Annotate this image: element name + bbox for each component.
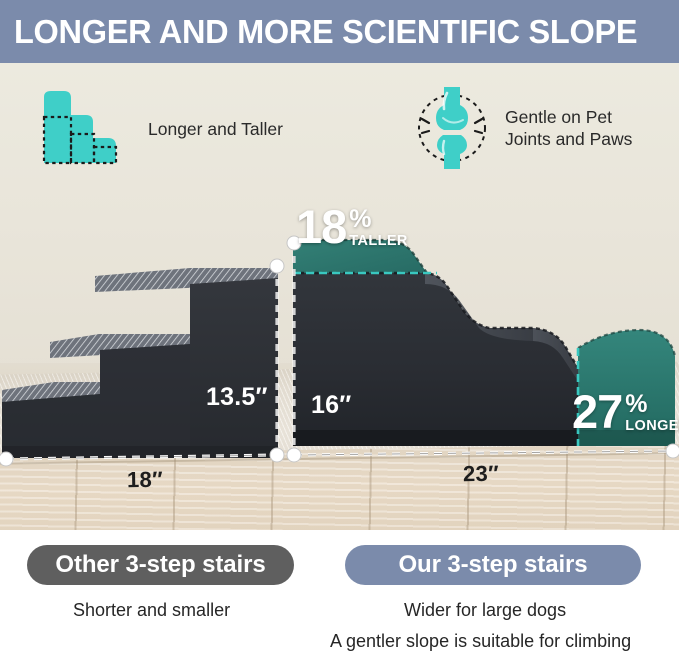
pill-our-stairs: Our 3-step stairs <box>345 545 641 585</box>
feature-longer-and-taller: Longer and Taller <box>24 89 283 169</box>
comparison-footer: Other 3-step stairs Our 3-step stairs Sh… <box>0 530 679 657</box>
pet-joint-icon <box>413 85 491 171</box>
other-stairs-width-label: 18″ <box>127 467 163 494</box>
pill-other-stairs: Other 3-step stairs <box>27 545 294 585</box>
caption-our-stairs-line1: Wider for large dogs <box>404 601 566 621</box>
header-bar: LONGER AND MORE SCIENTIFIC SLOPE <box>0 0 679 63</box>
infographic-page: LONGER AND MORE SCIENTIFIC SLOPE Longer … <box>0 0 679 657</box>
our-stairs-height-label: 16″ <box>311 391 351 420</box>
our-stairs-width-label: 23″ <box>463 461 499 488</box>
feature-gentle-on-joints: Gentle on Pet Joints and Paws <box>413 85 632 171</box>
badge-18-percent-taller: 18 % TALLER <box>296 206 408 248</box>
caption-our-stairs-line2: A gentler slope is suitable for climbing <box>330 632 631 652</box>
caption-other-stairs: Shorter and smaller <box>73 601 230 621</box>
badge-word: TALLER <box>349 234 408 249</box>
other-stairs-height-label: 13.5″ <box>206 383 268 412</box>
badge-27-percent-longer: 27 % LONGER <box>572 391 679 433</box>
feature-label: Gentle on Pet Joints and Paws <box>505 106 632 150</box>
badge-percent-symbol: % <box>349 208 371 232</box>
badge-word: LONGER <box>625 419 679 434</box>
feature-label: Longer and Taller <box>148 118 283 140</box>
other-stairs-product <box>0 246 280 461</box>
badge-percent-symbol: % <box>625 393 647 417</box>
badge-number: 18 <box>296 206 346 248</box>
page-title: LONGER AND MORE SCIENTIFIC SLOPE <box>14 15 637 48</box>
product-comparison-scene: Longer and Taller Gentle on Pet Joints a… <box>0 63 679 530</box>
staircase-icon <box>24 89 134 169</box>
badge-number: 27 <box>572 391 622 433</box>
